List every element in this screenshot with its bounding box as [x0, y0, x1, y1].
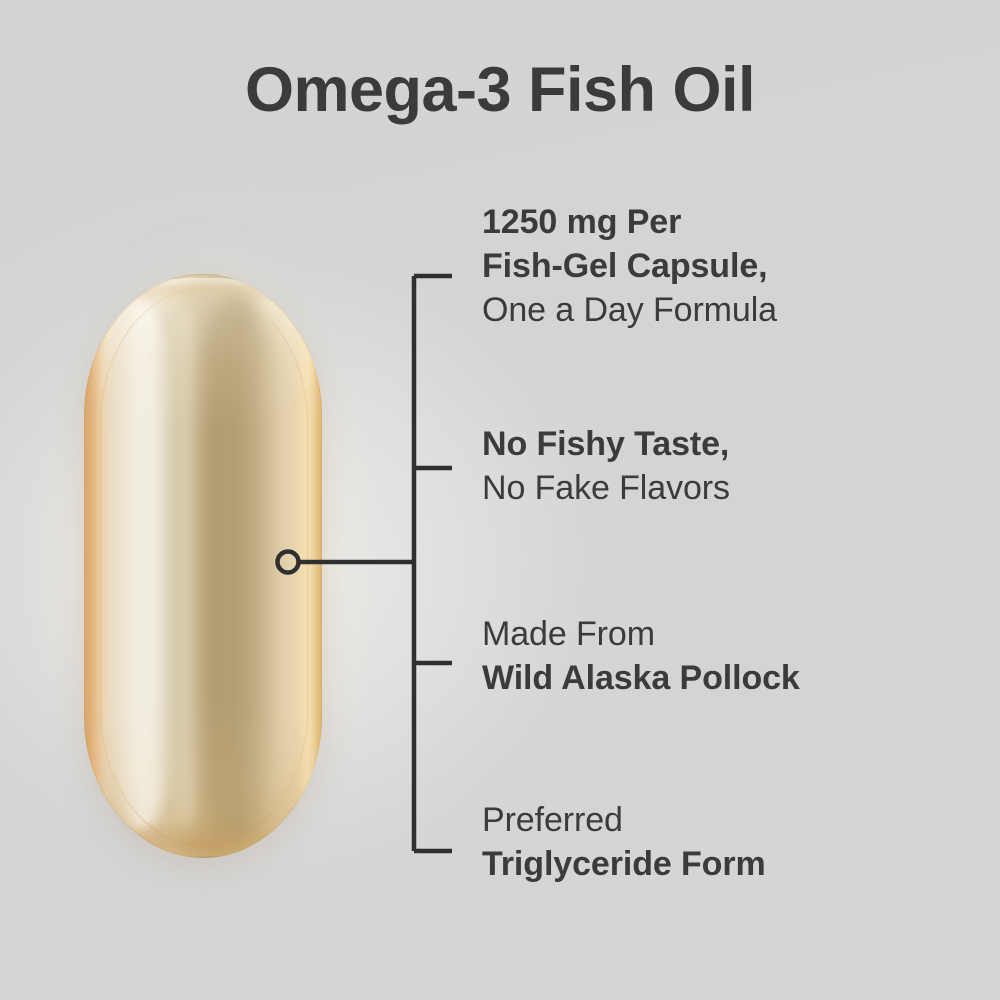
callout-line: Triglyceride Form [482, 842, 766, 886]
callout-line: Made From [482, 612, 800, 656]
callout-line: Fish-Gel Capsule, [482, 244, 777, 288]
callout-line: One a Day Formula [482, 288, 777, 332]
callout-dosage: 1250 mg Per Fish-Gel Capsule, One a Day … [482, 200, 777, 332]
infographic-canvas: Omega-3 Fish Oil [0, 0, 1000, 1000]
callout-taste: No Fishy Taste, No Fake Flavors [482, 422, 730, 510]
callout-line: No Fake Flavors [482, 466, 730, 510]
callout-form: Preferred Triglyceride Form [482, 798, 766, 886]
callout-line: No Fishy Taste, [482, 422, 730, 466]
callout-line: 1250 mg Per [482, 200, 777, 244]
callout-source: Made From Wild Alaska Pollock [482, 612, 800, 700]
callout-line: Preferred [482, 798, 766, 842]
capsule-anchor-point [278, 552, 299, 573]
callout-line: Wild Alaska Pollock [482, 656, 800, 700]
